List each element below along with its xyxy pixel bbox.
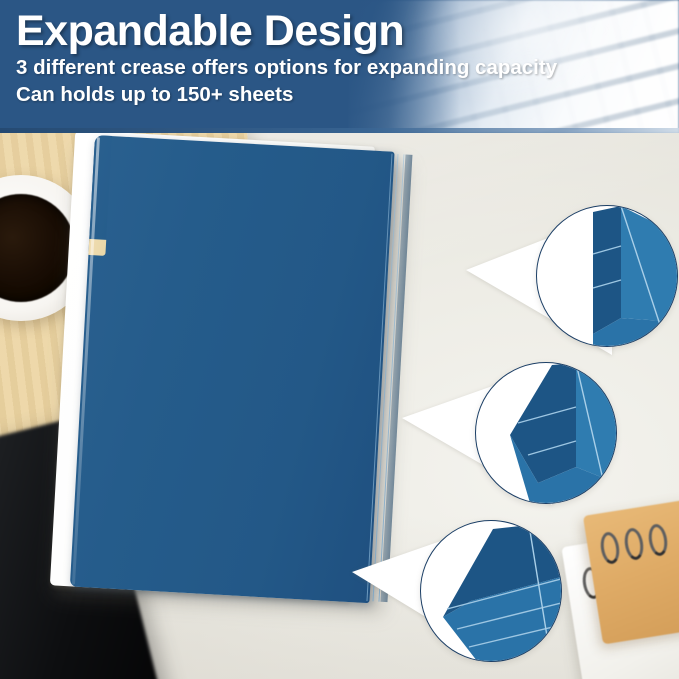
product-photo-scene [0, 133, 679, 679]
page-title: Expandable Design [16, 8, 576, 54]
header-subtitle-line-1: 3 different crease offers options for ex… [16, 54, 576, 81]
callout-cone-bottom [0, 133, 679, 679]
callout-crease-detail-bottom [0, 133, 679, 679]
header-text-block: Expandable Design 3 different crease off… [16, 8, 576, 109]
product-image-canvas: Expandable Design 3 different crease off… [0, 0, 679, 679]
header-banner: Expandable Design 3 different crease off… [0, 0, 679, 133]
header-subtitle-line-2: Can holds up to 150+ sheets [16, 81, 576, 108]
callout-bubble-bottom [420, 520, 562, 662]
